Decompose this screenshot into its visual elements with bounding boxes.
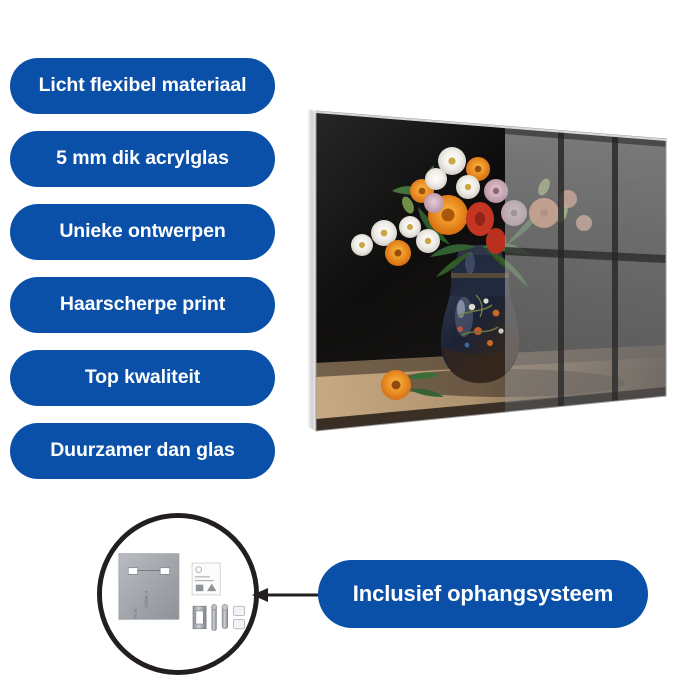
leader-arrowhead-icon (252, 588, 268, 602)
svg-text:15 16: 15 16 (133, 608, 138, 619)
feature-badge-label: Duurzamer dan glas (50, 441, 235, 461)
svg-text:K MQ12: K MQ12 (144, 591, 149, 609)
artwork-face (300, 95, 680, 445)
acrylic-glass-panel (300, 95, 680, 445)
mounting-hardware-circle: K MQ12 15 16 (97, 513, 259, 675)
callout-badge-label: Inclusief ophangsysteem (353, 583, 614, 605)
feature-badge-unieke-ontwerpen[interactable]: Unieke ontwerpen (10, 204, 275, 260)
mounting-hardware-photo: K MQ12 15 16 (102, 518, 254, 670)
panel-gloss (316, 111, 666, 431)
callout-badge-inclusief-ophangsysteem[interactable]: Inclusief ophangsysteem (318, 560, 648, 628)
feature-badge-label: 5 mm dik acrylglas (56, 149, 229, 169)
wall-bracket (193, 606, 206, 629)
feature-badge-haarscherpe-print[interactable]: Haarscherpe print (10, 277, 275, 333)
feature-badge-licht-flexibel-materiaal[interactable]: Licht flexibel materiaal (10, 58, 275, 114)
feature-badge-duurzamer-dan-glas[interactable]: Duurzamer dan glas (10, 423, 275, 479)
feature-badge-label: Haarscherpe print (60, 295, 225, 315)
panel-edge-thickness (308, 109, 316, 431)
instruction-leaflet (192, 563, 220, 595)
product-feature-graphic: Licht flexibel materiaal 5 mm dik acrylg… (0, 0, 700, 700)
feature-badge-label: Top kwaliteit (85, 368, 200, 388)
mounting-plate: K MQ12 15 16 (119, 554, 179, 620)
feature-badge-5-mm-dik-acrylglas[interactable]: 5 mm dik acrylglas (10, 131, 275, 187)
feature-badge-top-kwaliteit[interactable]: Top kwaliteit (10, 350, 275, 406)
feature-badge-label: Unieke ontwerpen (59, 222, 225, 242)
feature-badge-label: Licht flexibel materiaal (39, 76, 247, 96)
acrylic-panel-svg (300, 95, 680, 445)
